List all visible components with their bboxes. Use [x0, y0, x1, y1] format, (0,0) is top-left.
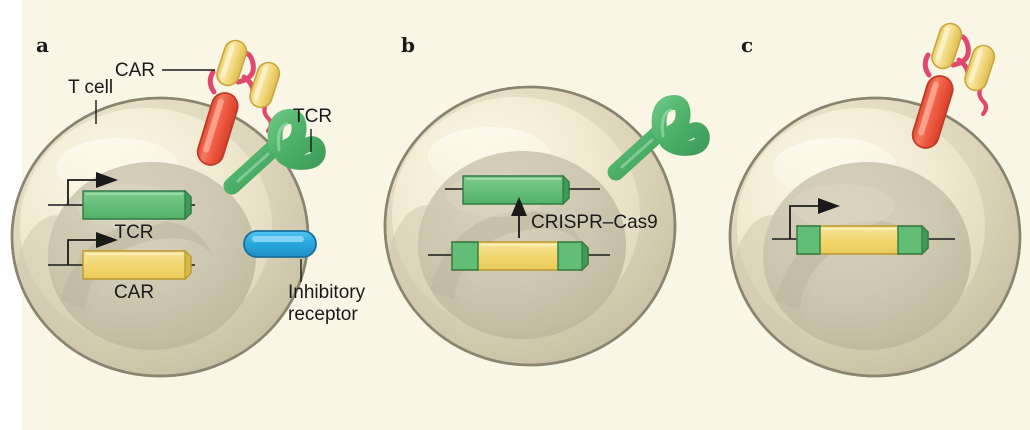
label-inhibitory-line1: Inhibitory	[288, 282, 366, 303]
gene-label-car-a: CAR	[114, 282, 154, 303]
diagram-svg: TCR CAR	[0, 0, 1030, 430]
label-t-cell: T cell	[68, 77, 113, 98]
t-cell-b	[384, 87, 675, 382]
panel-letter-c: c	[741, 33, 753, 57]
panel-b: CRISPR–Cas9 b	[384, 33, 702, 382]
panel-c: c	[729, 21, 1020, 392]
label-inhibitory-line2: receptor	[288, 304, 358, 325]
panel-letter-a: a	[36, 33, 49, 57]
figure-canvas: TCR CAR	[0, 0, 1030, 430]
label-tcr-receptor: TCR	[293, 106, 332, 127]
label-car-receptor: CAR	[115, 60, 155, 81]
inhibitory-receptor-a	[244, 231, 316, 257]
panel-a: TCR CAR	[12, 33, 366, 392]
panel-letter-b: b	[401, 33, 415, 57]
gene-label-tcr-a: TCR	[114, 222, 153, 243]
label-crispr-cas9: CRISPR–Cas9	[531, 212, 658, 233]
gene-car-knockin-b	[428, 242, 610, 270]
